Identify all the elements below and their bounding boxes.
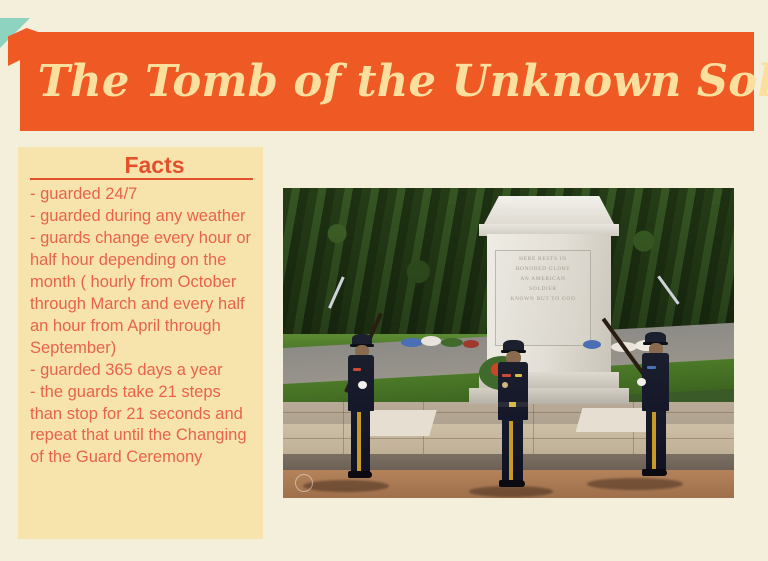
dress-shoe [642,469,667,476]
list-item: - guarded 365 days a year [30,360,253,382]
dress-shoe [499,480,525,487]
tomb-inscription-text: HERE RESTS IN HONORED GLORY AN AMERICAN … [499,254,587,304]
floral-wreath [463,340,479,348]
list-item: - guards change every hour or half hour … [30,228,253,360]
ribbon-bar [515,374,522,377]
list-item: - the guards take 21 steps than stop for… [30,382,253,470]
floral-wreath [441,338,463,347]
facts-panel: Facts - guarded 24/7 - guarded during an… [18,147,263,539]
trouser-stripe [357,412,361,472]
honor-guard-left [337,328,383,493]
title-banner: The Tomb of the Unknown Soldier [20,32,754,131]
ribbon-bar [353,368,361,371]
trouser-stripe [509,421,513,481]
ribbon-bar [647,366,656,369]
ribbon-bar [502,374,511,377]
floral-wreath [421,336,441,346]
belt-buckle [509,402,516,407]
soldier-shadow [303,480,389,492]
tomb-cap [483,196,615,226]
white-glove [358,381,367,389]
honor-guard-right [631,306,677,492]
floral-wreath [583,340,601,349]
soldier-legs [646,410,666,472]
facts-heading-underline [30,178,253,180]
white-glove [637,378,646,386]
soldier-torso [498,362,528,420]
soldier-torso [642,353,669,411]
facts-list: - guarded 24/7 - guarded during any weat… [30,184,253,469]
dress-shoe [348,471,372,478]
slide-canvas: The Tomb of the Unknown Soldier Facts - … [0,0,768,561]
list-item: - guarded 24/7 [30,184,253,206]
floral-wreath [401,338,423,347]
page-title: The Tomb of the Unknown Soldier [20,60,768,104]
soldier-legs [351,410,370,474]
insignia-badge [502,382,508,388]
tomb-photograph: HERE RESTS IN HONORED GLORY AN AMERICAN … [283,188,734,498]
facts-heading: Facts [30,153,253,177]
honor-guard-center [489,336,535,498]
trouser-stripe [652,412,656,470]
soldier-shadow [587,478,683,490]
photo-watermark-icon [295,474,313,492]
soldier-legs [502,419,523,483]
soldier-shadow [469,486,553,497]
list-item: - guarded during any weather [30,206,253,228]
